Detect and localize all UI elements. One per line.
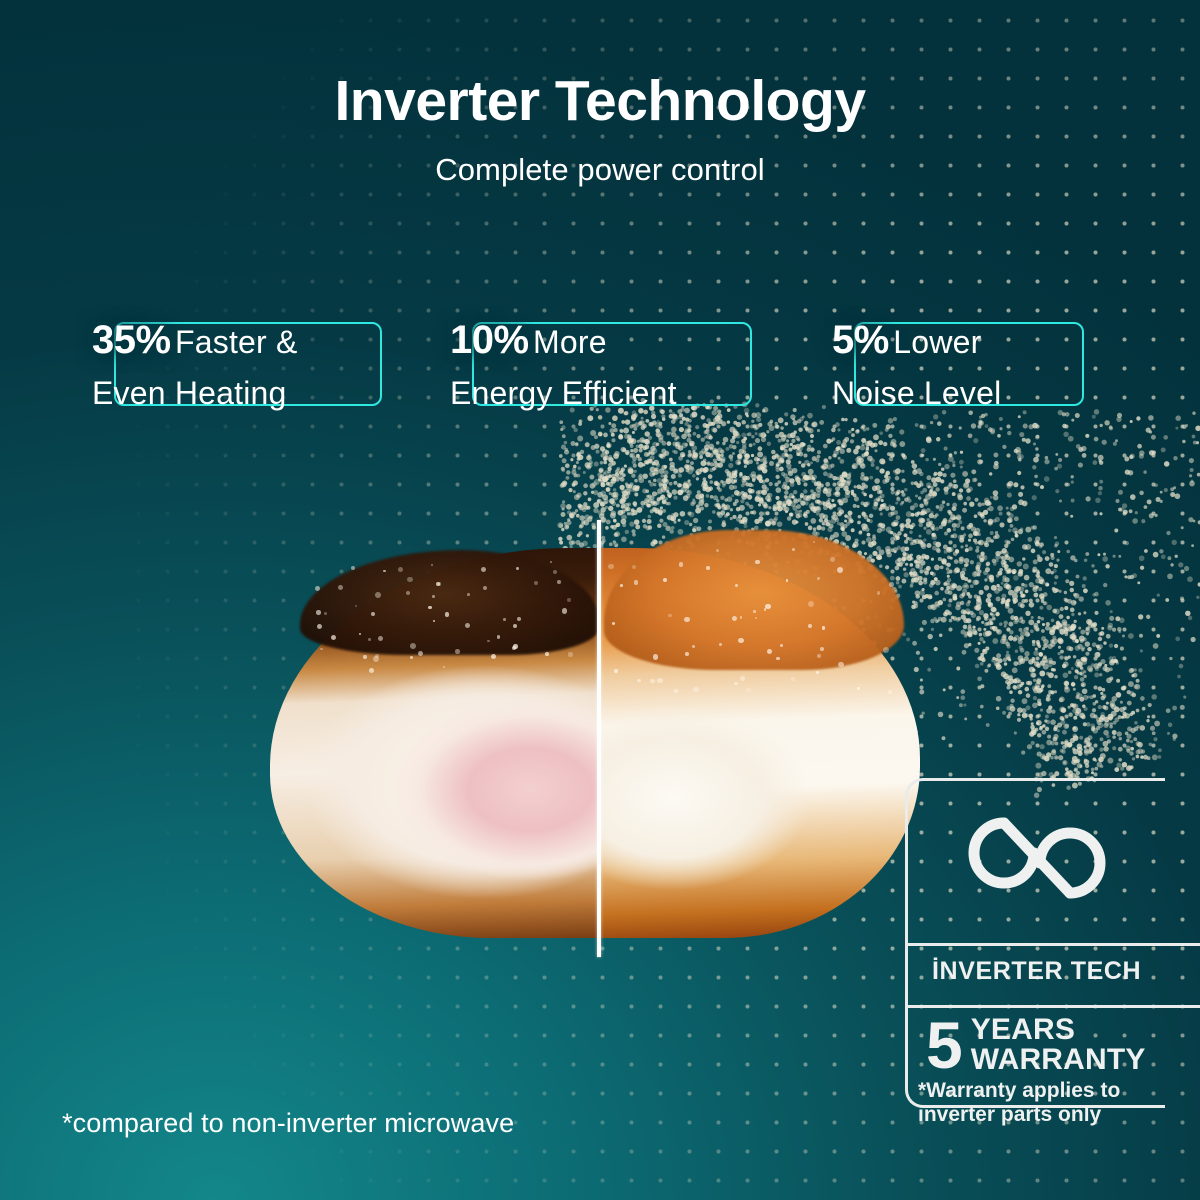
crust-speck — [822, 626, 825, 629]
crust-speck — [679, 562, 683, 566]
crust-speck — [553, 570, 557, 574]
seal-warranty-word: WARRANTY — [971, 1045, 1146, 1075]
crust-speck — [316, 610, 320, 614]
crust-speck — [378, 636, 383, 641]
crust-speck — [481, 567, 486, 572]
stat-label-2: Even Heating — [92, 371, 374, 415]
crust-speck — [734, 682, 737, 685]
stat-percent: 5% — [832, 318, 889, 362]
crust-speck — [650, 679, 654, 683]
crust-speck — [776, 657, 779, 660]
crust-speck — [491, 654, 496, 659]
crust-speck — [428, 606, 431, 609]
crust-speck — [608, 564, 613, 569]
crust-speck — [614, 669, 617, 672]
stat-label-2: Noise Level — [832, 371, 1076, 415]
crust-speck — [753, 610, 755, 612]
crust-speck — [786, 579, 788, 581]
crust-speck — [418, 651, 423, 656]
crust-speck — [550, 561, 552, 563]
crust-speck — [612, 622, 615, 625]
stat-badge-line1: 5% Lower — [832, 318, 1076, 371]
stat-badge-faster-heating: 35% Faster & Even Heating — [82, 318, 382, 406]
food-comparison-image — [270, 520, 920, 960]
crust-speck — [567, 598, 571, 602]
crust-speck — [445, 612, 449, 616]
crust-speck — [562, 608, 567, 613]
crust-speck — [410, 643, 416, 649]
stat-label-1: More — [533, 324, 607, 360]
crust-speck — [791, 677, 795, 681]
warranty-seal: İNVERTER TECH 5 YEARS WARRANTY *Warranty… — [905, 778, 1165, 1108]
crust-speck — [746, 688, 751, 693]
stat-percent: 35% — [92, 318, 171, 362]
page-title: Inverter Technology — [0, 72, 1200, 132]
crust-speck — [467, 593, 470, 596]
stat-badge-text: 5% Lower Noise Level — [822, 318, 1084, 415]
crust-speck — [837, 567, 843, 573]
crust-speck — [557, 580, 561, 584]
crust-speck — [516, 567, 519, 570]
footnote: *compared to non-inverter microwave — [62, 1108, 514, 1139]
crust-speck — [375, 592, 381, 598]
stat-badge-group: 35% Faster & Even Heating 10% More Energ… — [0, 318, 1200, 418]
golden-crust — [604, 530, 904, 670]
stat-label-1: Lower — [893, 324, 981, 360]
promo-graphic: Inverter Technology Complete power contr… — [0, 0, 1200, 1200]
seal-note-line1: *Warranty applies to — [918, 1079, 1120, 1103]
crust-speck — [568, 652, 572, 656]
crust-speck — [808, 601, 814, 607]
crust-speck — [653, 654, 658, 659]
stat-percent: 10% — [450, 318, 529, 362]
crust-speck — [483, 586, 487, 590]
crust-speck — [888, 690, 892, 694]
page-subtitle: Complete power control — [0, 152, 1200, 188]
crust-speck — [684, 617, 689, 622]
crust-speck — [817, 577, 820, 580]
crust-speck — [620, 584, 623, 587]
crust-speck — [755, 560, 760, 565]
crust-speck — [663, 578, 667, 582]
crust-speck — [338, 585, 343, 590]
crust-speck — [889, 582, 894, 587]
crust-speck — [368, 638, 371, 641]
stat-badge-energy-efficient: 10% More Energy Efficient — [440, 318, 752, 406]
crust-speck — [383, 570, 386, 573]
crust-speck — [634, 580, 639, 585]
crust-speck — [780, 644, 783, 647]
crust-speck — [637, 679, 641, 683]
seal-note-line2: inverter parts only — [918, 1103, 1120, 1127]
crust-speck — [455, 649, 460, 654]
food-half-inverter — [597, 520, 920, 960]
food-half-non-inverter — [270, 520, 597, 960]
stat-badge-noise-level: 5% Lower Noise Level — [822, 318, 1084, 406]
crust-speck — [857, 687, 860, 690]
crust-speck — [838, 662, 843, 667]
crust-speck — [632, 565, 636, 569]
crust-speck — [877, 591, 881, 595]
header: Inverter Technology Complete power contr… — [0, 72, 1200, 188]
seal-years-words: YEARS WARRANTY — [971, 1015, 1146, 1075]
crust-speck — [407, 577, 413, 583]
crust-speck — [487, 640, 489, 642]
seal-warranty-note: *Warranty applies to inverter parts only — [918, 1079, 1120, 1126]
crust-speck — [792, 548, 795, 551]
stat-badge-text: 35% Faster & Even Heating — [82, 318, 382, 415]
crust-speck — [883, 647, 889, 653]
stat-badge-line1: 35% Faster & — [92, 318, 374, 371]
seal-warranty-block: 5 YEARS WARRANTY — [926, 1015, 1146, 1075]
crust-speck — [716, 549, 719, 552]
seal-tech-label: İNVERTER TECH — [932, 957, 1141, 986]
infinity-icon — [908, 803, 1165, 918]
crust-speck — [315, 586, 320, 591]
comparison-divider-line — [597, 520, 601, 957]
crust-speck — [738, 638, 743, 643]
crust-speck — [320, 648, 322, 650]
crust-speck — [398, 567, 403, 572]
stat-badge-text: 10% More Energy Efficient — [440, 318, 752, 415]
seal-years-word: YEARS — [971, 1015, 1146, 1045]
crust-speck — [685, 652, 689, 656]
seal-divider-1 — [908, 943, 1200, 946]
seal-years-number: 5 — [926, 1016, 963, 1074]
crust-speck — [692, 645, 695, 648]
stat-badge-line1: 10% More — [450, 318, 744, 371]
crust-speck — [363, 655, 366, 658]
crust-speck — [432, 595, 435, 598]
stat-label-2: Energy Efficient — [450, 371, 744, 415]
stat-label-1: Faster & — [175, 324, 298, 360]
